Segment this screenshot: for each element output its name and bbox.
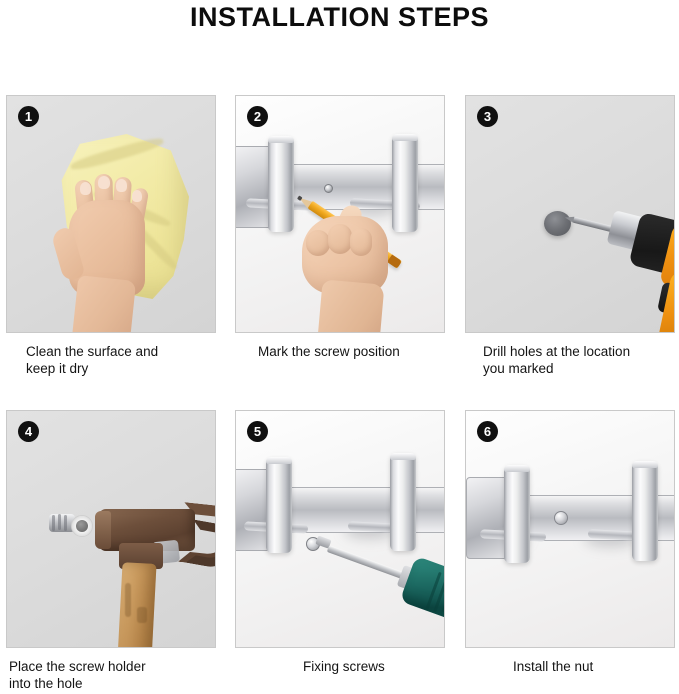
hammer-handle xyxy=(115,562,156,648)
hook-post xyxy=(632,461,658,561)
wall-anchor-screw-holder xyxy=(49,509,101,541)
step-number-badge-2: 2 xyxy=(247,106,268,127)
steps-grid: 1 xyxy=(0,95,679,694)
step-6-image: 6 xyxy=(465,410,675,648)
wood-grain xyxy=(125,583,131,617)
step-number-badge-4: 4 xyxy=(18,421,39,442)
step-2-image: 2 xyxy=(235,95,445,333)
screw-thread xyxy=(64,515,67,531)
step-number-badge-6: 6 xyxy=(477,421,498,442)
steps-row-1: 1 xyxy=(0,95,679,410)
hook-post xyxy=(266,457,292,553)
screw-thread xyxy=(52,515,55,531)
screw-mark-point xyxy=(324,184,333,193)
knuckle xyxy=(328,224,352,254)
screwdriver-shaft xyxy=(327,545,406,580)
claw-hammer xyxy=(97,499,216,648)
step-caption-5: Fixing screws xyxy=(235,659,445,676)
hook-post xyxy=(504,465,530,563)
step-card-3: 3 Drill holes at the location you marked xyxy=(465,95,675,377)
step-card-5: 5 xyxy=(235,410,445,676)
power-drill xyxy=(562,191,675,333)
step-number-badge-3: 3 xyxy=(477,106,498,127)
step-5-image: 5 xyxy=(235,410,445,648)
hand-wiping xyxy=(55,166,165,331)
installed-nut xyxy=(554,511,568,525)
towel-hook-rack xyxy=(465,473,675,583)
step-card-6: 6 Install the nut xyxy=(465,410,675,676)
step-4-image: 4 xyxy=(6,410,216,648)
wood-grain xyxy=(137,607,147,623)
page-title: INSTALLATION STEPS xyxy=(0,2,679,33)
hook-post xyxy=(268,136,294,232)
wrist xyxy=(318,279,385,333)
step-number-badge-5: 5 xyxy=(247,421,268,442)
knuckle xyxy=(350,228,372,256)
hand-holding-pencil xyxy=(292,202,412,333)
step-card-4: 4 xyxy=(6,410,216,692)
fingernail xyxy=(98,176,110,189)
screwdriver xyxy=(328,531,445,641)
screw-thread xyxy=(58,514,61,530)
step-caption-1: Clean the surface and keep it dry xyxy=(6,344,216,377)
knuckle xyxy=(306,230,330,256)
anchor-bore xyxy=(76,520,88,532)
step-caption-3: Drill holes at the location you marked xyxy=(465,344,675,377)
steps-row-2: 4 xyxy=(0,410,679,694)
hammer-face xyxy=(95,511,111,549)
step-card-2: 2 xyxy=(235,95,445,361)
step-number-badge-1: 1 xyxy=(18,106,39,127)
step-caption-4: Place the screw holder into the hole xyxy=(6,659,216,692)
step-caption-2: Mark the screw position xyxy=(235,344,445,361)
pencil-end xyxy=(387,254,402,268)
installation-steps-infographic: INSTALLATION STEPS 1 xyxy=(0,0,679,694)
step-caption-6: Install the nut xyxy=(465,659,675,676)
step-3-image: 3 xyxy=(465,95,675,333)
step-card-1: 1 xyxy=(6,95,216,377)
fingernail xyxy=(116,179,127,192)
fingernail xyxy=(132,190,142,202)
fingernail xyxy=(80,182,91,195)
wrist xyxy=(72,275,136,333)
step-1-image: 1 xyxy=(6,95,216,333)
